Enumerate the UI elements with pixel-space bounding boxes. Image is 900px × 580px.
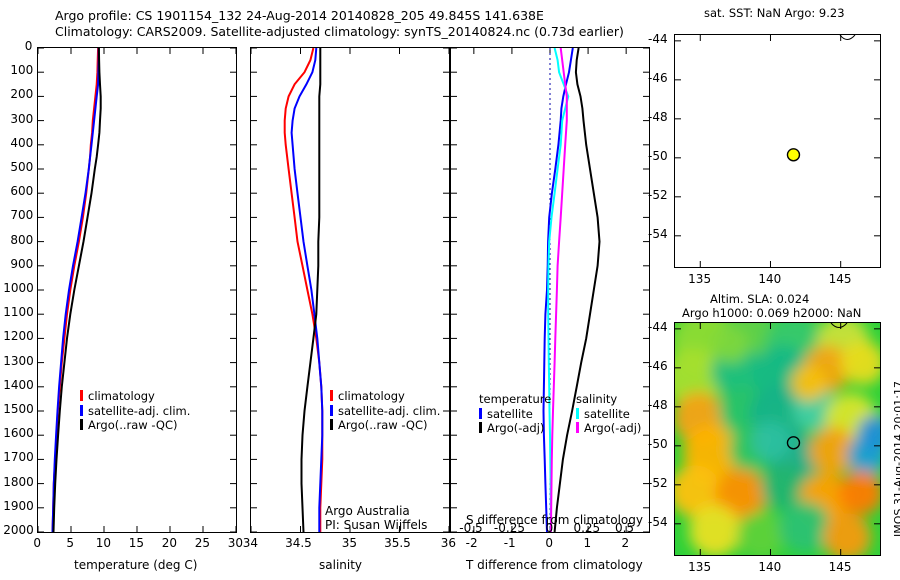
axis-tick-label: 34.5 [285, 536, 312, 550]
legend-label: Argo(-adj) [487, 421, 544, 435]
coastline-contour [840, 35, 855, 40]
legend-item-argo-raw: Argo(..raw -QC) [330, 418, 440, 433]
legend-label: satellite-adj. clim. [338, 404, 440, 418]
axis-tick-label: -48 [648, 110, 668, 124]
sla-field-blobs [675, 323, 880, 555]
axis-tick-label: 25 [195, 536, 210, 550]
axis-tick-label: 1800 [3, 475, 34, 489]
axis-tick-label: -50 [648, 437, 668, 451]
axis-tick-label: 1900 [3, 499, 34, 513]
legend-swatch-icon [330, 405, 333, 416]
legend-label: climatology [88, 389, 155, 403]
legend-swatch-icon [479, 408, 482, 419]
legend-item-temperature-satellite: satellite [479, 407, 551, 422]
axis-tick-label: 300 [10, 112, 33, 126]
legend-label: satellite-adj. clim. [88, 404, 190, 418]
temperature-difference-axis-label: T difference from climatology [466, 558, 643, 572]
credit-line2: PI: Susan Wijffels [325, 518, 427, 532]
axis-tick-label: 0 [25, 39, 33, 53]
axis-tick-label: 30 [228, 536, 243, 550]
axis-tick-label: 1000 [3, 281, 34, 295]
temperature-panel [37, 47, 237, 533]
axis-tick-label: -44 [648, 32, 668, 46]
legend-item-salinity-argo: Argo(-adj) [576, 421, 641, 436]
axis-tick-label: 2 [622, 536, 630, 550]
axis-tick-label: 800 [10, 233, 33, 247]
axis-tick-label: -54 [648, 227, 668, 241]
axis-tick-label: 15 [129, 536, 144, 550]
sla-map[interactable] [674, 322, 881, 556]
axis-tick-label: 36 [441, 536, 456, 550]
legend-swatch-icon [80, 405, 83, 416]
legend-label: Argo(..raw -QC) [88, 418, 178, 432]
axis-tick-label: -46 [648, 71, 668, 85]
legend-label: climatology [338, 389, 405, 403]
legend-item-climatology: climatology [80, 389, 190, 404]
axis-tick-label: 200 [10, 87, 33, 101]
axis-tick-label: 1300 [3, 354, 34, 368]
sla-map-title-line2: Argo h1000: 0.069 h2000: NaN [682, 306, 861, 320]
difference-legend-salinity: salinity satellite Argo(-adj) [576, 392, 641, 436]
axis-tick-label: -44 [648, 320, 668, 334]
axis-tick-label: -1 [504, 536, 516, 550]
legend-item-satellite-adj: satellite-adj. clim. [80, 404, 190, 419]
axis-tick-label: 1600 [3, 426, 34, 440]
axis-tick-label: 100 [10, 63, 33, 77]
axis-tick-label: 700 [10, 208, 33, 222]
axis-tick-label: 2000 [3, 523, 34, 537]
profile-location-marker[interactable] [787, 149, 799, 161]
legend-header-salinity: salinity [576, 392, 641, 407]
legend-swatch-icon [479, 422, 482, 433]
temperature-legend: climatology satellite-adj. clim. Argo(..… [80, 389, 190, 433]
legend-swatch-icon [330, 419, 333, 430]
credit-line1: Argo Australia [325, 504, 410, 518]
axis-tick-label: 1 [583, 536, 591, 550]
legend-item-satellite-adj: satellite-adj. clim. [330, 404, 440, 419]
axis-tick-label: -52 [648, 188, 668, 202]
axis-tick-label: 34 [243, 536, 258, 550]
axis-tick-label: -48 [648, 398, 668, 412]
page-title-line2: Climatology: CARS2009. Satellite-adjuste… [55, 24, 624, 39]
sla-map-area [675, 323, 880, 555]
legend-item-temperature-argo: Argo(-adj) [479, 421, 551, 436]
temperature-curve-satellite-adj [53, 48, 99, 532]
axis-tick-label: -52 [648, 476, 668, 490]
axis-tick-label: 20 [162, 536, 177, 550]
legend-swatch-icon [80, 419, 83, 430]
axis-tick-label: 145 [829, 272, 852, 286]
axis-tick-label: 145 [829, 560, 852, 574]
axis-tick-label: 140 [758, 272, 781, 286]
legend-item-salinity-satellite: satellite [576, 407, 641, 422]
salinity-panel [250, 47, 450, 533]
legend-swatch-icon [576, 408, 579, 419]
legend-header-temperature: temperature [479, 392, 551, 407]
sst-map[interactable] [674, 34, 881, 268]
axis-tick-label: 135 [688, 560, 711, 574]
axis-tick-label: 1200 [3, 329, 34, 343]
axis-tick-label: 600 [10, 184, 33, 198]
axis-tick-label: -54 [648, 515, 668, 529]
axis-tick-label: 35 [342, 536, 357, 550]
legend-label: satellite [487, 407, 533, 421]
axis-tick-label: 400 [10, 136, 33, 150]
axis-tick-label: 500 [10, 160, 33, 174]
legend-item-climatology: climatology [330, 389, 440, 404]
difference-curve-salinity-argo [551, 48, 567, 532]
imos-timestamp-watermark: IMOS 31-Aug-2014 20:01:17 [892, 381, 900, 537]
salinity-difference-axis-label: S difference from climatology [466, 513, 643, 527]
legend-label: Argo(..raw -QC) [338, 418, 428, 432]
legend-label: Argo(-adj) [584, 421, 641, 435]
legend-swatch-icon [330, 390, 333, 401]
axis-tick-label: 10 [96, 536, 111, 550]
axis-tick-label: 5 [66, 536, 74, 550]
axis-tick-label: -50 [648, 149, 668, 163]
legend-swatch-icon [576, 422, 579, 433]
axis-tick-label: 1700 [3, 450, 34, 464]
temperature-axis-label: temperature (deg C) [74, 558, 197, 572]
page-title-line1: Argo profile: CS 1901154_132 24-Aug-2014… [55, 8, 544, 23]
difference-legend-temperature: temperature satellite Argo(-adj) [479, 392, 551, 436]
axis-tick-label: 1400 [3, 378, 34, 392]
salinity-plot-area [251, 48, 449, 532]
sla-map-title-line1: Altim. SLA: 0.024 [710, 292, 809, 306]
axis-tick-label: 1100 [3, 305, 34, 319]
axis-tick-label: -2 [466, 536, 478, 550]
sst-map-title: sat. SST: NaN Argo: 9.23 [704, 6, 845, 20]
legend-swatch-icon [80, 390, 83, 401]
axis-tick-label: 0 [545, 536, 553, 550]
difference-plot-area [451, 48, 649, 532]
difference-panel [450, 47, 650, 533]
axis-tick-label: 135 [688, 272, 711, 286]
axis-tick-label: -46 [648, 359, 668, 373]
legend-label: satellite [584, 407, 630, 421]
legend-item-argo-raw: Argo(..raw -QC) [80, 418, 190, 433]
salinity-legend: climatology satellite-adj. clim. Argo(..… [330, 389, 440, 433]
axis-tick-label: 1500 [3, 402, 34, 416]
axis-tick-label: 0 [33, 536, 41, 550]
sst-map-area [675, 35, 880, 267]
temperature-plot-area [38, 48, 236, 532]
axis-tick-label: 900 [10, 257, 33, 271]
axis-tick-label: 35.5 [384, 536, 411, 550]
axis-tick-label: 140 [758, 560, 781, 574]
salinity-axis-label: salinity [319, 558, 362, 572]
